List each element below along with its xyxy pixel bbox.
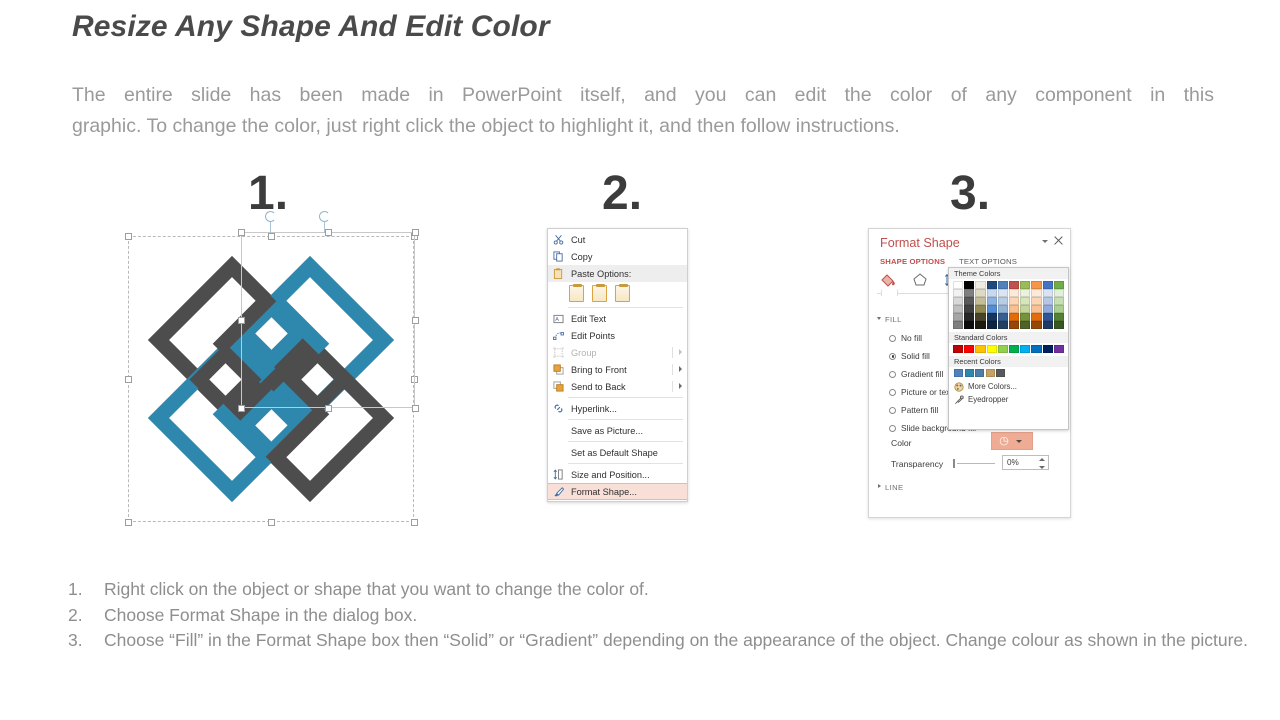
paste-merge-formatting-icon[interactable]: [592, 285, 607, 302]
triangle-right-icon-line[interactable]: [878, 484, 881, 488]
menu-label-save-as-picture: Save as Picture...: [567, 426, 643, 436]
selection-handle-nw[interactable]: [125, 233, 132, 240]
theme-colors-variant-rows[interactable]: [949, 289, 1068, 329]
instruction-text-3: Choose “Fill” in the Format Shape box th…: [104, 628, 1276, 654]
eyedropper-option[interactable]: Eyedropper: [949, 393, 1068, 406]
paint-bucket-icon: ◷: [992, 436, 1016, 447]
standard-swatch-9[interactable]: [1054, 345, 1064, 353]
theme-colors-row-5[interactable]: [949, 321, 1068, 329]
spinner-arrows[interactable]: [1039, 458, 1045, 469]
theme-swatch-4-6[interactable]: [1020, 313, 1030, 321]
instruction-number-1: 1.: [68, 577, 104, 603]
palette-icon: [954, 382, 964, 392]
more-colors-label: More Colors...: [968, 382, 1017, 391]
chevron-down-icon[interactable]: [1042, 240, 1048, 243]
menu-label-group: Group: [567, 348, 597, 358]
theme-swatch-3-8[interactable]: [1043, 305, 1053, 313]
rotate-stem-left: [270, 222, 271, 233]
theme-swatch-3-0[interactable]: [953, 305, 963, 313]
theme-swatch-3-4[interactable]: [998, 305, 1008, 313]
theme-swatch-5-8[interactable]: [1043, 321, 1053, 329]
standard-swatch-1[interactable]: [964, 345, 974, 353]
standard-colors-header: Standard Colors: [949, 332, 1068, 343]
menu-label-edit-points: Edit Points: [567, 331, 615, 341]
clipboard-icon: [550, 266, 567, 281]
menu-label-set-default-shape: Set as Default Shape: [567, 448, 658, 458]
eyedropper-icon: [954, 395, 964, 405]
radio-circle-solid-fill[interactable]: [889, 353, 896, 360]
paste-keep-formatting-icon[interactable]: [569, 285, 584, 302]
standard-colors-row[interactable]: [949, 343, 1068, 356]
spinner-down-icon[interactable]: [1039, 466, 1045, 469]
theme-swatch-4-2[interactable]: [975, 313, 985, 321]
theme-colors-row-2[interactable]: [949, 297, 1068, 305]
menu-label-send-to-back: Send to Back: [567, 382, 626, 392]
radio-label-gradient-fill: Gradient fill: [901, 369, 943, 379]
theme-swatch-base-9[interactable]: [1054, 281, 1064, 289]
rotate-handle-left[interactable]: [265, 211, 276, 222]
chevron-right-icon-back: [679, 383, 682, 389]
subtitle-line-2: graphic. To change the color, just right…: [72, 111, 1214, 142]
menu-divider-3: [568, 419, 683, 420]
menu-item-group[interactable]: Group: [548, 344, 687, 361]
tab-shape-options[interactable]: SHAPE OPTIONS: [880, 257, 945, 266]
transparency-label: Transparency: [891, 459, 943, 469]
theme-colors-row-4[interactable]: [949, 313, 1068, 321]
menu-item-edit-text[interactable]: A Edit Text: [548, 310, 687, 327]
theme-swatch-3-6[interactable]: [1020, 305, 1030, 313]
theme-swatch-1-0[interactable]: [953, 289, 963, 297]
submenu-divider-back: [672, 381, 673, 392]
size-position-icon: [550, 467, 567, 482]
selection-handle-se[interactable]: [411, 519, 418, 526]
menu-item-cut[interactable]: Cut: [548, 231, 687, 248]
menu-item-edit-points[interactable]: Edit Points: [548, 327, 687, 344]
theme-swatch-5-2[interactable]: [975, 321, 985, 329]
menu-label-cut: Cut: [567, 235, 585, 245]
selection-handle-sw[interactable]: [125, 519, 132, 526]
effects-pentagon-icon[interactable]: [911, 271, 929, 289]
theme-swatch-4-7[interactable]: [1031, 313, 1041, 321]
transparency-value: 0%: [1007, 458, 1019, 467]
recent-colors-row[interactable]: [949, 367, 1068, 380]
theme-swatch-5-6[interactable]: [1020, 321, 1030, 329]
radio-circle-no-fill[interactable]: [889, 335, 896, 342]
menu-label-copy: Copy: [567, 252, 592, 262]
theme-swatch-3-9[interactable]: [1054, 305, 1064, 313]
theme-swatch-1-9[interactable]: [1054, 289, 1064, 297]
theme-swatch-1-7[interactable]: [1031, 289, 1041, 297]
standard-swatch-2[interactable]: [975, 345, 985, 353]
theme-swatch-1-5[interactable]: [1009, 289, 1019, 297]
menu-divider-2: [568, 397, 683, 398]
transparency-slider-knob[interactable]: [953, 459, 955, 468]
theme-swatch-base-0[interactable]: [953, 281, 963, 289]
theme-swatch-4-9[interactable]: [1054, 313, 1064, 321]
hyperlink-icon: [550, 401, 567, 416]
menu-label-hyperlink: Hyperlink...: [567, 404, 617, 414]
theme-colors-header: Theme Colors: [949, 268, 1068, 279]
page-subtitle: The entire slide has been made in PowerP…: [72, 80, 1214, 142]
radio-circle-picture-fill[interactable]: [889, 389, 896, 396]
selection-handle-w[interactable]: [125, 376, 132, 383]
rotate-stem-right: [324, 222, 325, 233]
radio-label-no-fill: No fill: [901, 333, 922, 343]
standard-swatch-3[interactable]: [987, 345, 997, 353]
menu-label-edit-text: Edit Text: [567, 314, 606, 324]
theme-swatch-3-3[interactable]: [987, 305, 997, 313]
instruction-text-1: Right click on the object or shape that …: [104, 577, 1276, 603]
standard-swatch-5[interactable]: [1009, 345, 1019, 353]
instruction-number-2: 2.: [68, 603, 104, 629]
radio-circle-pattern-fill[interactable]: [889, 407, 896, 414]
transparency-spinner[interactable]: 0%: [1002, 455, 1049, 470]
selection-bounding-box-inner[interactable]: [241, 232, 415, 408]
theme-swatch-base-6[interactable]: [1020, 281, 1030, 289]
theme-swatch-3-2[interactable]: [975, 305, 985, 313]
radio-circle-slide-background-fill[interactable]: [889, 425, 896, 432]
no-icon-placeholder-default: [550, 445, 567, 460]
theme-swatch-3-1[interactable]: [964, 305, 974, 313]
shape-illustration-panel[interactable]: [128, 236, 414, 522]
paste-options-row[interactable]: [548, 282, 687, 305]
menu-item-hyperlink[interactable]: Hyperlink...: [548, 400, 687, 417]
instructions-list: 1. Right click on the object or shape th…: [68, 577, 1276, 654]
fill-line-icon[interactable]: [879, 271, 897, 289]
recent-swatch-4[interactable]: [996, 369, 1005, 377]
radio-label-pattern-fill: Pattern fill: [901, 405, 938, 415]
theme-swatch-4-0[interactable]: [953, 313, 963, 321]
theme-colors-row-3[interactable]: [949, 305, 1068, 313]
format-pane-title: Format Shape: [880, 236, 960, 250]
theme-swatch-5-4[interactable]: [998, 321, 1008, 329]
group-icon: [550, 345, 567, 360]
recent-swatch-2[interactable]: [975, 369, 984, 377]
menu-item-bring-to-front[interactable]: Bring to Front: [548, 361, 687, 378]
menu-divider-1: [568, 307, 683, 308]
theme-swatch-5-9[interactable]: [1054, 321, 1064, 329]
standard-swatch-7[interactable]: [1031, 345, 1041, 353]
edit-points-icon: [550, 328, 567, 343]
theme-swatch-2-8[interactable]: [1043, 297, 1053, 305]
color-label: Color: [891, 438, 912, 448]
paste-picture-icon[interactable]: [615, 285, 630, 302]
theme-swatch-1-8[interactable]: [1043, 289, 1053, 297]
menu-item-set-default-shape[interactable]: Set as Default Shape: [548, 444, 687, 461]
menu-item-format-shape[interactable]: Format Shape...: [548, 483, 687, 500]
theme-swatch-1-1[interactable]: [964, 289, 974, 297]
theme-swatch-2-6[interactable]: [1020, 297, 1030, 305]
standard-swatch-8[interactable]: [1043, 345, 1053, 353]
standard-swatch-4[interactable]: [998, 345, 1008, 353]
menu-item-paste-options: Paste Options:: [548, 265, 687, 282]
bring-front-icon: [550, 362, 567, 377]
theme-swatch-2-7[interactable]: [1031, 297, 1041, 305]
color-picker-dropdown[interactable]: Theme Colors Standard Colors Recent Colo…: [948, 267, 1069, 430]
color-picker-button[interactable]: ◷: [991, 432, 1033, 450]
line-section-header[interactable]: LINE: [885, 483, 903, 492]
menu-label-bring-to-front: Bring to Front: [567, 365, 627, 375]
theme-swatch-3-7[interactable]: [1031, 305, 1041, 313]
standard-swatch-6[interactable]: [1020, 345, 1030, 353]
theme-swatch-5-3[interactable]: [987, 321, 997, 329]
inner-handle-s[interactable]: [325, 405, 332, 412]
inner-handle-n[interactable]: [325, 229, 332, 236]
triangle-down-icon-fill[interactable]: [877, 317, 881, 320]
inner-handle-sw[interactable]: [238, 405, 245, 412]
theme-swatch-base-1[interactable]: [964, 281, 974, 289]
recent-swatch-3[interactable]: [986, 369, 995, 377]
theme-swatch-2-5[interactable]: [1009, 297, 1019, 305]
recent-swatch-1[interactable]: [965, 369, 974, 377]
theme-swatch-4-5[interactable]: [1009, 313, 1019, 321]
step-number-2: 2.: [602, 170, 642, 218]
theme-swatch-2-2[interactable]: [975, 297, 985, 305]
inner-handle-w[interactable]: [238, 317, 245, 324]
instruction-number-3: 3.: [68, 628, 104, 654]
recent-colors-header: Recent Colors: [949, 356, 1068, 367]
menu-item-copy[interactable]: Copy: [548, 248, 687, 265]
copy-icon: [550, 249, 567, 264]
theme-swatch-base-2[interactable]: [975, 281, 985, 289]
theme-swatch-base-3[interactable]: [987, 281, 997, 289]
theme-swatch-base-7[interactable]: [1031, 281, 1041, 289]
theme-swatch-4-4[interactable]: [998, 313, 1008, 321]
radio-no-fill[interactable]: No fill: [889, 333, 922, 343]
chevron-right-icon-front: [679, 366, 682, 372]
fill-section-header[interactable]: FILL: [885, 315, 902, 324]
send-back-icon: [550, 379, 567, 394]
radio-solid-fill[interactable]: Solid fill: [889, 351, 930, 361]
inner-handle-e[interactable]: [412, 317, 419, 324]
theme-colors-base-row[interactable]: [949, 279, 1068, 289]
menu-label-format-shape: Format Shape...: [567, 487, 637, 497]
theme-swatch-5-1[interactable]: [964, 321, 974, 329]
menu-label-paste-options: Paste Options:: [567, 269, 631, 279]
theme-swatch-4-1[interactable]: [964, 313, 974, 321]
spinner-up-icon[interactable]: [1039, 458, 1045, 461]
theme-swatch-2-9[interactable]: [1054, 297, 1064, 305]
instruction-item-3: 3. Choose “Fill” in the Format Shape box…: [68, 628, 1276, 654]
subtitle-line-1: The entire slide has been made in PowerP…: [72, 80, 1214, 111]
recent-swatch-0[interactable]: [954, 369, 963, 377]
chevron-right-icon-group: [679, 349, 682, 355]
more-colors-option[interactable]: More Colors...: [949, 380, 1068, 393]
transparency-slider-track[interactable]: [957, 463, 995, 464]
svg-text:A: A: [555, 316, 559, 322]
menu-item-save-as-picture[interactable]: Save as Picture...: [548, 422, 687, 439]
tab-text-options[interactable]: TEXT OPTIONS: [959, 257, 1017, 266]
standard-swatch-0[interactable]: [953, 345, 963, 353]
chevron-down-icon-color[interactable]: [1016, 440, 1022, 443]
no-icon-placeholder-save: [550, 423, 567, 438]
theme-swatch-1-4[interactable]: [998, 289, 1008, 297]
theme-swatch-1-2[interactable]: [975, 289, 985, 297]
theme-swatch-base-5[interactable]: [1009, 281, 1019, 289]
submenu-divider-group: [672, 347, 673, 358]
inner-handle-se[interactable]: [412, 405, 419, 412]
theme-swatch-2-0[interactable]: [953, 297, 963, 305]
eyedropper-label: Eyedropper: [968, 395, 1008, 404]
rotate-handle-right[interactable]: [319, 211, 330, 222]
theme-swatch-2-1[interactable]: [964, 297, 974, 305]
radio-pattern-fill[interactable]: Pattern fill: [889, 405, 938, 415]
menu-item-size-and-position[interactable]: Size and Position...: [548, 466, 687, 483]
theme-swatch-5-7[interactable]: [1031, 321, 1041, 329]
theme-swatch-base-8[interactable]: [1043, 281, 1053, 289]
theme-colors-row-1[interactable]: [949, 289, 1068, 297]
radio-circle-gradient-fill[interactable]: [889, 371, 896, 378]
menu-label-size-and-position: Size and Position...: [567, 470, 650, 480]
context-menu[interactable]: Cut Copy Paste Options: A Edit Text Edit…: [547, 228, 688, 502]
theme-swatch-base-4[interactable]: [998, 281, 1008, 289]
theme-swatch-1-6[interactable]: [1020, 289, 1030, 297]
page-title: Resize Any Shape And Edit Color: [72, 10, 550, 44]
menu-divider-5: [568, 463, 683, 464]
radio-gradient-fill[interactable]: Gradient fill: [889, 369, 943, 379]
theme-swatch-4-8[interactable]: [1043, 313, 1053, 321]
theme-swatch-2-3[interactable]: [987, 297, 997, 305]
inner-handle-nw[interactable]: [238, 229, 245, 236]
step-number-3: 3.: [950, 170, 990, 218]
selection-handle-s[interactable]: [268, 519, 275, 526]
theme-swatch-5-5[interactable]: [1009, 321, 1019, 329]
instruction-item-2: 2. Choose Format Shape in the dialog box…: [68, 603, 1276, 629]
edit-text-icon: A: [550, 311, 567, 326]
submenu-divider-front: [672, 364, 673, 375]
theme-swatch-2-4[interactable]: [998, 297, 1008, 305]
theme-swatch-5-0[interactable]: [953, 321, 963, 329]
instruction-text-2: Choose Format Shape in the dialog box.: [104, 603, 1276, 629]
theme-swatch-1-3[interactable]: [987, 289, 997, 297]
inner-handle-ne[interactable]: [412, 229, 419, 236]
radio-label-solid-fill: Solid fill: [901, 351, 930, 361]
menu-divider-4: [568, 441, 683, 442]
menu-item-send-to-back[interactable]: Send to Back: [548, 378, 687, 395]
instruction-item-1: 1. Right click on the object or shape th…: [68, 577, 1276, 603]
scissors-icon: [550, 232, 567, 247]
format-shape-icon: [550, 484, 567, 499]
close-icon[interactable]: [1053, 235, 1063, 245]
theme-swatch-4-3[interactable]: [987, 313, 997, 321]
theme-swatch-3-5[interactable]: [1009, 305, 1019, 313]
